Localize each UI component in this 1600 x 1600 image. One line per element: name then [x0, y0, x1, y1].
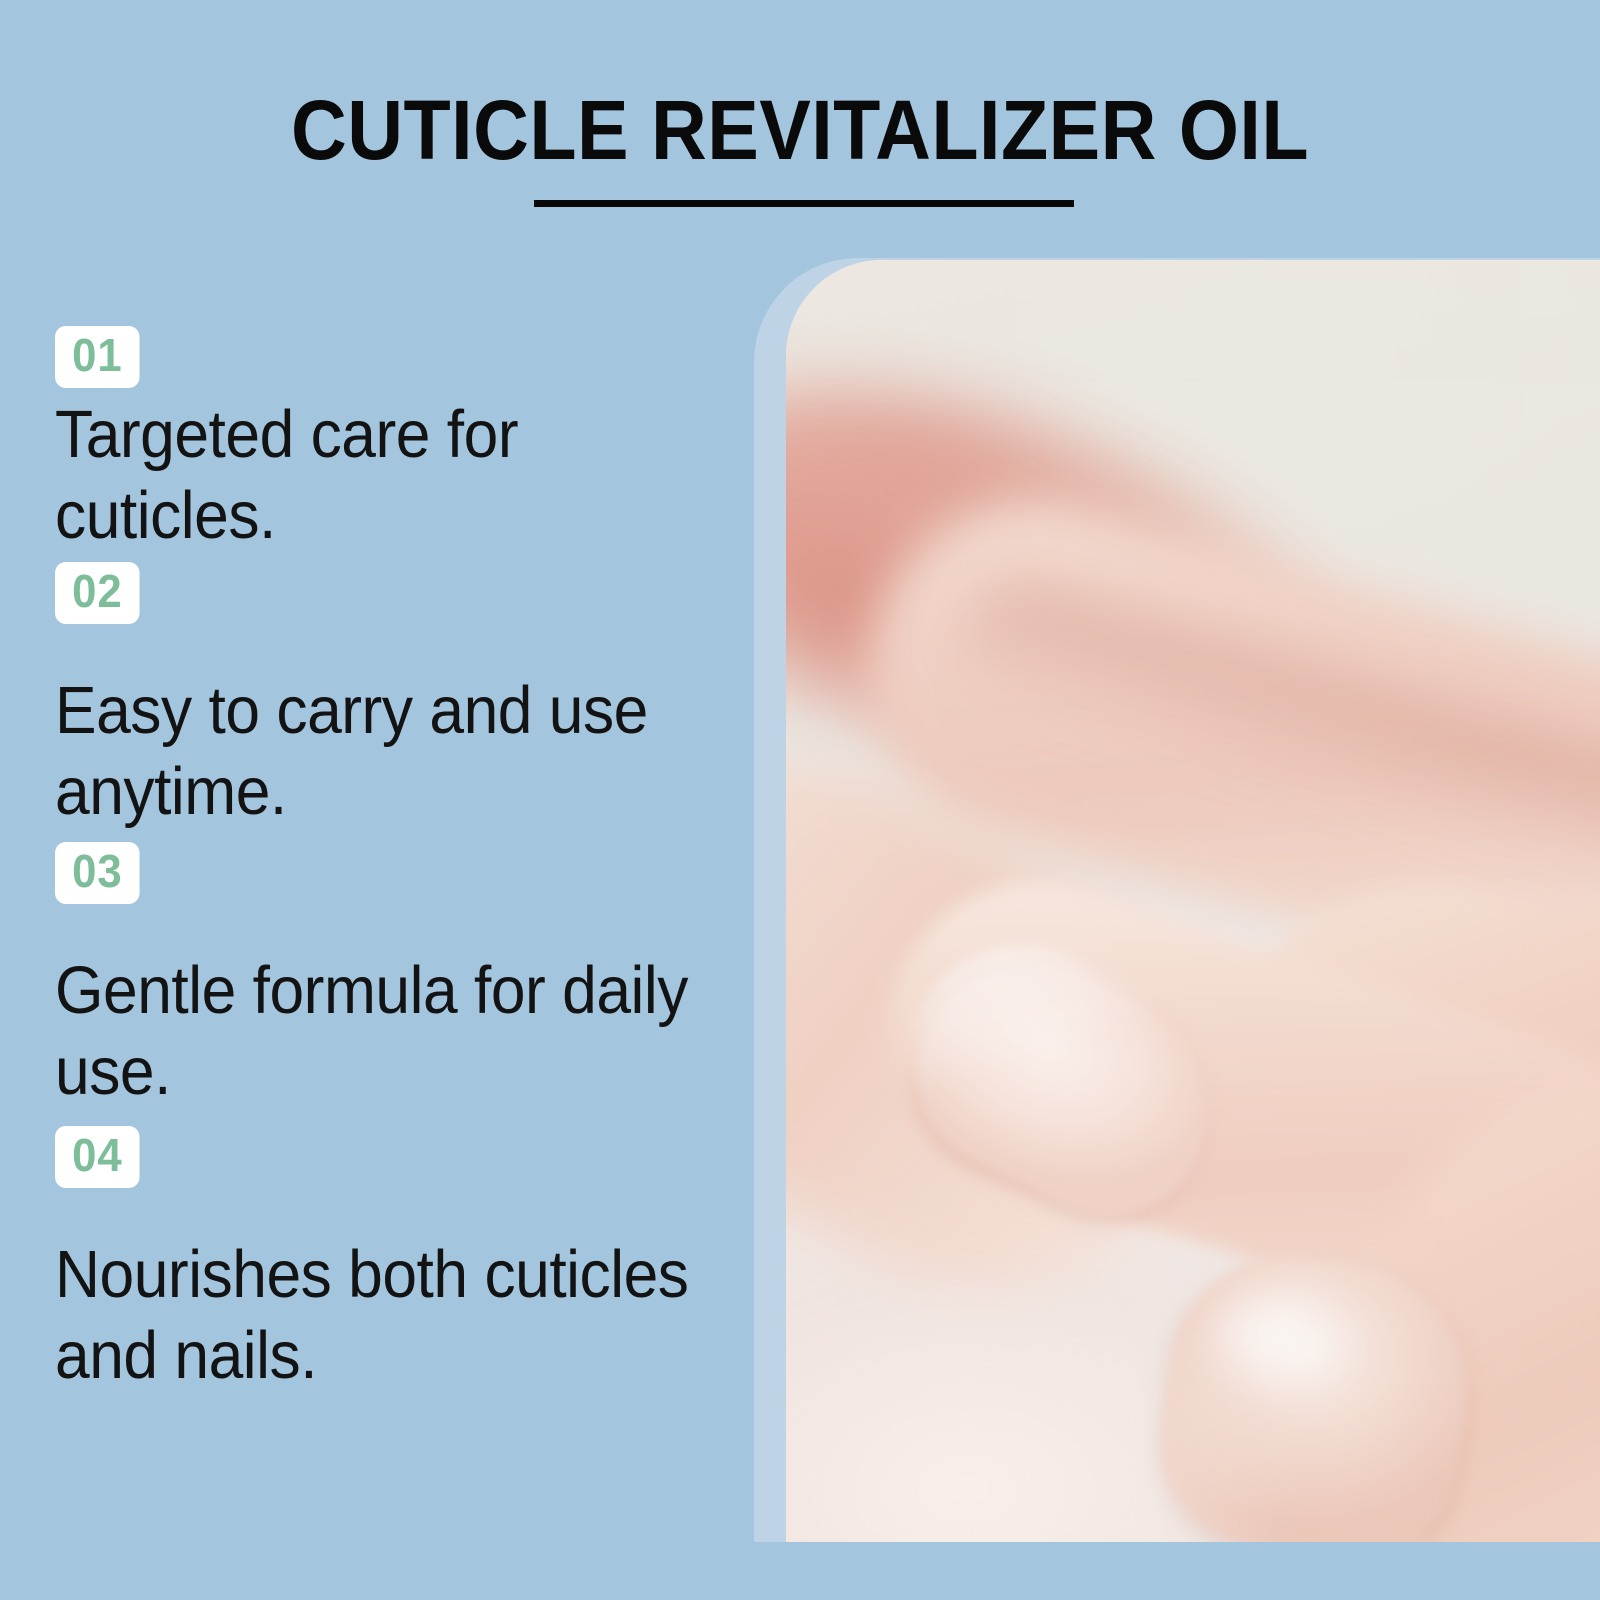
feature-text-04: Nourishes both cuticles and nails.	[55, 1234, 697, 1397]
page-title: CUTICLE REVITALIZER OIL	[64, 88, 1536, 172]
feature-item-02: 02 Easy to carry and use anytime.	[55, 562, 745, 833]
feature-text-03: Gentle formula for daily use.	[55, 950, 697, 1113]
feature-text-01: Targeted care for cuticles.	[55, 394, 697, 557]
feature-item-04: 04 Nourishes both cuticles and nails.	[55, 1126, 745, 1397]
feature-item-03: 03 Gentle formula for daily use.	[55, 842, 745, 1113]
feature-number-badge-01: 01	[55, 326, 140, 388]
feature-number-badge-02: 02	[55, 562, 140, 624]
feature-number-badge-03: 03	[55, 842, 140, 904]
title-underline-rule	[534, 200, 1074, 207]
feature-item-01: 01 Targeted care for cuticles.	[55, 326, 745, 557]
feature-text-02: Easy to carry and use anytime.	[55, 670, 697, 833]
infographic-canvas: CUTICLE REVITALIZER OIL 01 Targeted care…	[0, 0, 1600, 1600]
product-photo	[786, 260, 1600, 1542]
feature-number-badge-04: 04	[55, 1126, 140, 1188]
